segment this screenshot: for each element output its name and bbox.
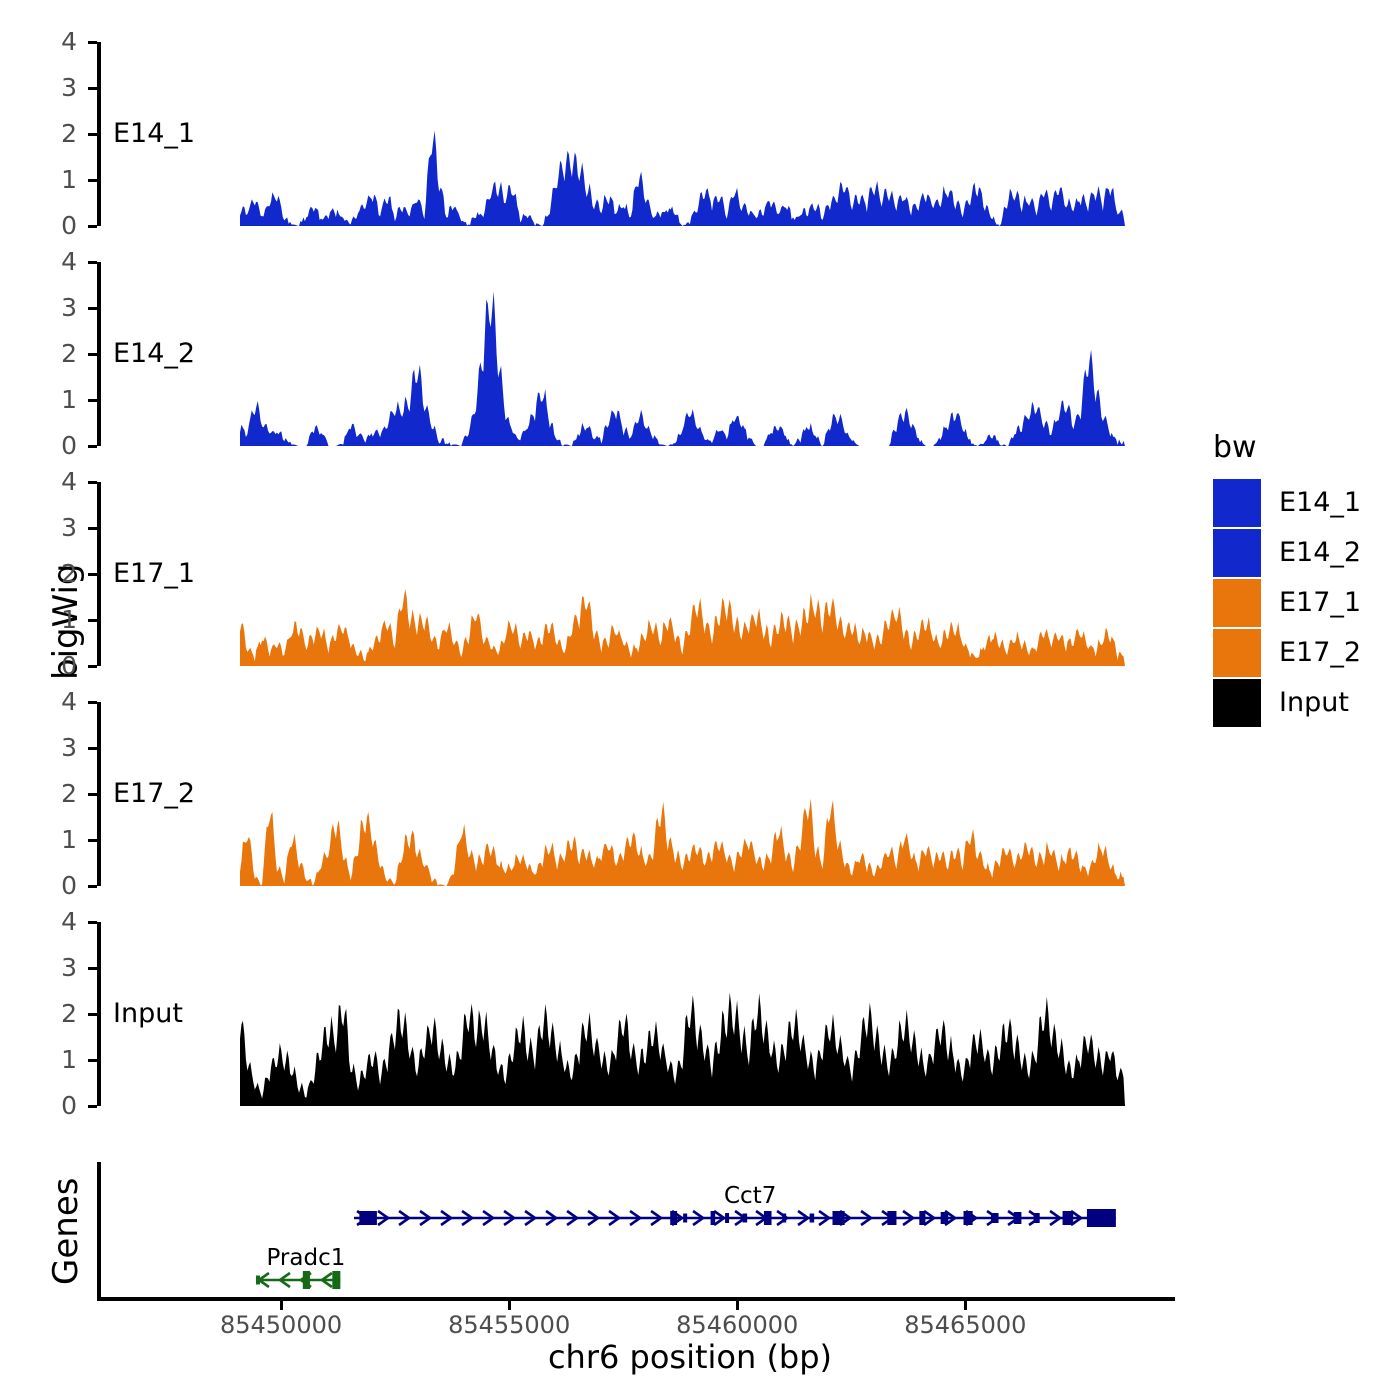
track-area-e14_1 (0, 36, 1180, 234)
legend-label: E17_1 (1279, 589, 1361, 617)
track-panel-e17_1: 01234E17_1 (0, 476, 1180, 674)
gene-exon (887, 1211, 896, 1225)
x-tick-mark (508, 1301, 511, 1310)
legend-label: Input (1279, 689, 1349, 717)
legend-label: E14_2 (1279, 539, 1361, 567)
gene-exon (832, 1211, 844, 1225)
legend-label: E17_2 (1279, 639, 1361, 667)
legend-label: E14_1 (1279, 489, 1361, 517)
legend-color-swatch (1213, 679, 1261, 727)
gene-exon (1014, 1212, 1022, 1224)
x-tick-mark (964, 1301, 967, 1310)
coverage-area (240, 131, 1125, 226)
gene-exon (1063, 1211, 1074, 1225)
legend-item-e17_1[interactable]: E17_1 (1213, 578, 1393, 628)
gene-exon (303, 1271, 310, 1289)
gene-exon (256, 1276, 260, 1285)
coverage-area (240, 993, 1125, 1107)
track-panel-input: 01234Input (0, 916, 1180, 1114)
x-axis-line (97, 1297, 1175, 1301)
gene-exon (941, 1212, 949, 1224)
gene-exon (359, 1211, 377, 1225)
legend-color-swatch (1213, 479, 1261, 527)
gene-exon (670, 1211, 677, 1225)
gene-models (0, 1150, 1180, 1310)
gene-exon (711, 1211, 716, 1225)
track-area-e17_2 (0, 696, 1180, 894)
x-tick-mark (736, 1301, 739, 1310)
gene-exon (743, 1214, 748, 1223)
track-area-e17_1 (0, 476, 1180, 674)
legend-color-swatch (1213, 579, 1261, 627)
gene-exon (764, 1211, 772, 1225)
gene-exon (683, 1214, 687, 1223)
x-tick-label: 85460000 (637, 1312, 837, 1338)
legend-item-e17_2[interactable]: E17_2 (1213, 628, 1393, 678)
x-tick-label: 85455000 (409, 1312, 609, 1338)
legend-title: bw (1213, 432, 1393, 464)
coverage-area (240, 291, 1125, 446)
gene-exon (810, 1214, 815, 1223)
gene-exon (964, 1211, 973, 1225)
legend-item-e14_2[interactable]: E14_2 (1213, 528, 1393, 578)
genes-panel: Cct7Pradc1 (0, 1150, 1180, 1310)
gene-exon (919, 1211, 925, 1225)
track-panel-e17_2: 01234E17_2 (0, 696, 1180, 894)
coverage-area (240, 589, 1125, 666)
x-tick-label: 85450000 (181, 1312, 381, 1338)
x-tick-mark (280, 1301, 283, 1310)
gene-exon (782, 1214, 786, 1223)
gene-exon (725, 1213, 729, 1223)
x-tick-label: 85465000 (865, 1312, 1065, 1338)
track-area-input (0, 916, 1180, 1114)
legend-color-swatch (1213, 529, 1261, 577)
legend-item-input[interactable]: Input (1213, 678, 1393, 728)
legend: bw E14_1E14_2E17_1E17_2Input (1213, 432, 1393, 728)
legend-item-e14_1[interactable]: E14_1 (1213, 478, 1393, 528)
legend-items: E14_1E14_2E17_1E17_2Input (1213, 478, 1393, 728)
track-panel-e14_2: 01234E14_2 (0, 256, 1180, 454)
bigwig-track-figure: bigWig Genes 01234E14_101234E14_201234E1… (0, 0, 1400, 1400)
gene-exon (332, 1271, 340, 1289)
gene-exon (991, 1213, 999, 1223)
gene-exon (1034, 1213, 1040, 1223)
track-area-e14_2 (0, 256, 1180, 454)
gene-exon (1087, 1209, 1116, 1227)
legend-color-swatch (1213, 629, 1261, 677)
track-panel-e14_1: 01234E14_1 (0, 36, 1180, 234)
x-axis-title: chr6 position (bp) (130, 1340, 1250, 1374)
coverage-area (240, 799, 1125, 887)
